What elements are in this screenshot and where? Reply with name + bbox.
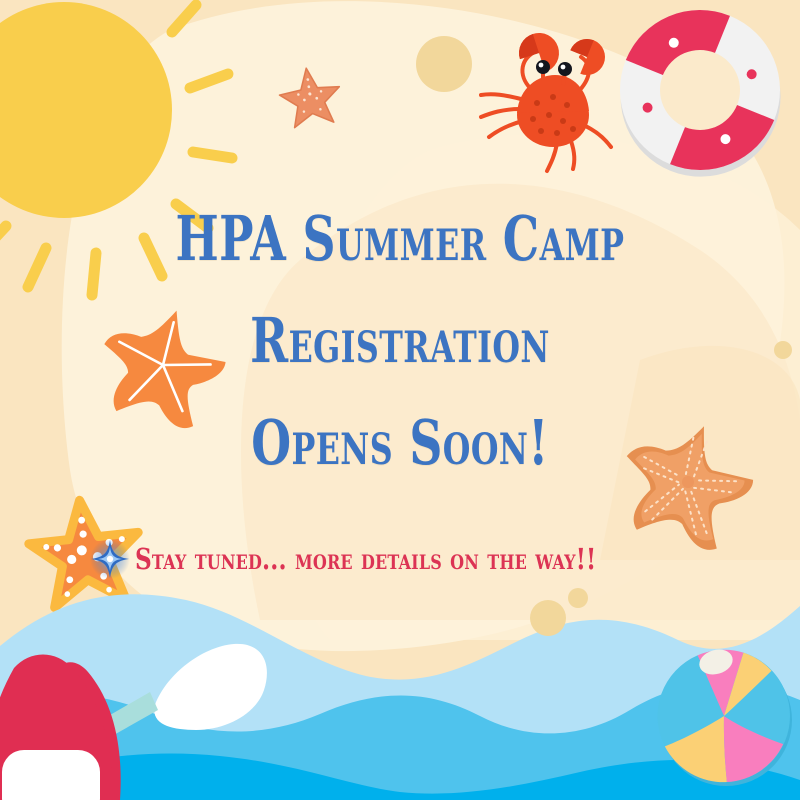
headline-line-1: HPA Summer Camp [72,208,728,270]
sparkle-icon [89,538,131,580]
summer-camp-poster: HPA Summer Camp Registration Opens Soon!… [0,0,800,800]
beach-ball-icon [651,646,793,788]
subtitle-block: Stay tuned... more details on the way!! [0,538,800,580]
headline-line-3: Opens Soon! [72,412,728,474]
headline-line-2: Registration [72,310,728,372]
headline-block: HPA Summer Camp Registration Opens Soon! [0,208,800,474]
subtitle-text: Stay tuned... more details on the way!! [135,542,596,576]
